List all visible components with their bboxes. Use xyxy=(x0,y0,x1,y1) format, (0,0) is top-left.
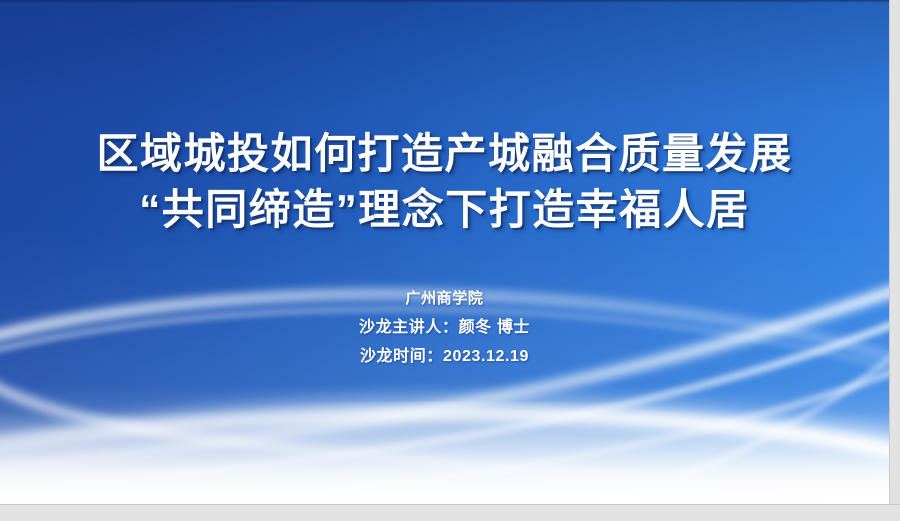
slide-viewer: 区域城投如何打造产城融合质量发展 “共同缔造”理念下打造幸福人居 广州商学院 沙… xyxy=(0,0,900,521)
decorative-ribbon-group xyxy=(0,0,889,504)
viewer-bottom-margin xyxy=(0,504,900,521)
viewer-right-margin xyxy=(889,0,900,504)
presentation-slide: 区域城投如何打造产城融合质量发展 “共同缔造”理念下打造幸福人居 广州商学院 沙… xyxy=(0,0,889,504)
